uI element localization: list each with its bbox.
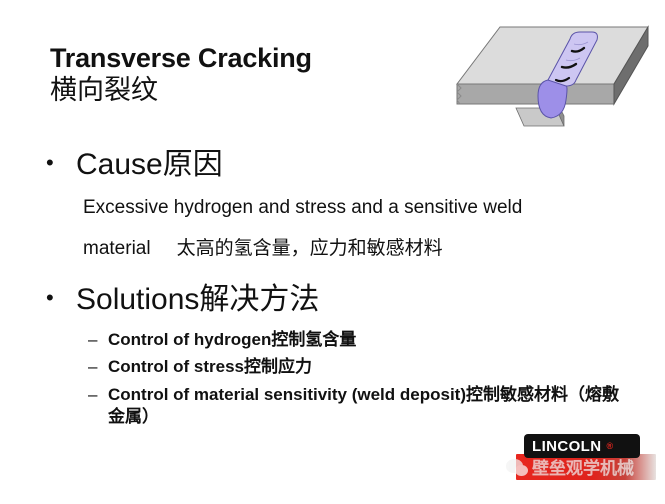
weld-bead-illustration bbox=[452, 22, 664, 142]
slide-body: • Cause原因 Excessive hydrogen and stress … bbox=[46, 146, 626, 433]
cause-body-line-2-chinese: 太高的氢含量，应力和敏感材料 bbox=[177, 238, 443, 259]
dash-marker-icon: – bbox=[88, 329, 108, 351]
sub-item-label: Control of material sensitivity (weld de… bbox=[108, 384, 626, 429]
bullet-marker-icon: • bbox=[46, 281, 76, 315]
slide-canvas: Transverse Cracking 横向裂纹 bbox=[0, 0, 665, 504]
bullet-cause-english: Cause bbox=[76, 148, 163, 181]
title-chinese: 横向裂纹 bbox=[50, 74, 450, 108]
slide-title: Transverse Cracking 横向裂纹 bbox=[50, 44, 450, 108]
lincoln-electric-logo: LINCOLN ® 壁垒观学机械 bbox=[516, 434, 656, 492]
registered-trademark-icon: ® bbox=[606, 442, 613, 451]
sub-item-control-stress: – Control of stress控制应力 bbox=[88, 356, 626, 378]
sub-item-control-hydrogen: – Control of hydrogen控制氢含量 bbox=[88, 329, 626, 351]
title-english: Transverse Cracking bbox=[50, 44, 450, 72]
logo-brand-text: LINCOLN bbox=[532, 439, 601, 454]
bullet-cause-chinese: 原因 bbox=[163, 148, 223, 181]
cause-body-line-2-english: material bbox=[83, 238, 151, 259]
bullet-marker-icon: • bbox=[46, 146, 76, 180]
bullet-solutions-text: Solutions解决方法 bbox=[76, 281, 626, 319]
cause-body-line-2: material太高的氢含量，应力和敏感材料 bbox=[83, 239, 626, 259]
cause-body-line-1: Excessive hydrogen and stress and a sens… bbox=[83, 198, 626, 218]
bullet-solutions-chinese: 解决方法 bbox=[199, 283, 319, 316]
sub-item-label: Control of hydrogen控制氢含量 bbox=[108, 329, 626, 351]
bullet-cause: • Cause原因 bbox=[46, 146, 626, 184]
logo-black-box: LINCOLN ® bbox=[524, 434, 640, 458]
sub-item-label: Control of stress控制应力 bbox=[108, 356, 626, 378]
bullet-solutions-english: Solutions bbox=[76, 283, 199, 316]
sub-item-control-material-sensitivity: – Control of material sensitivity (weld … bbox=[88, 384, 626, 429]
dash-marker-icon: – bbox=[88, 356, 108, 378]
solutions-sub-list: – Control of hydrogen控制氢含量 – Control of … bbox=[46, 329, 626, 429]
bullet-cause-text: Cause原因 bbox=[76, 146, 626, 184]
dash-marker-icon: – bbox=[88, 384, 108, 406]
bullet-solutions: • Solutions解决方法 bbox=[46, 281, 626, 319]
